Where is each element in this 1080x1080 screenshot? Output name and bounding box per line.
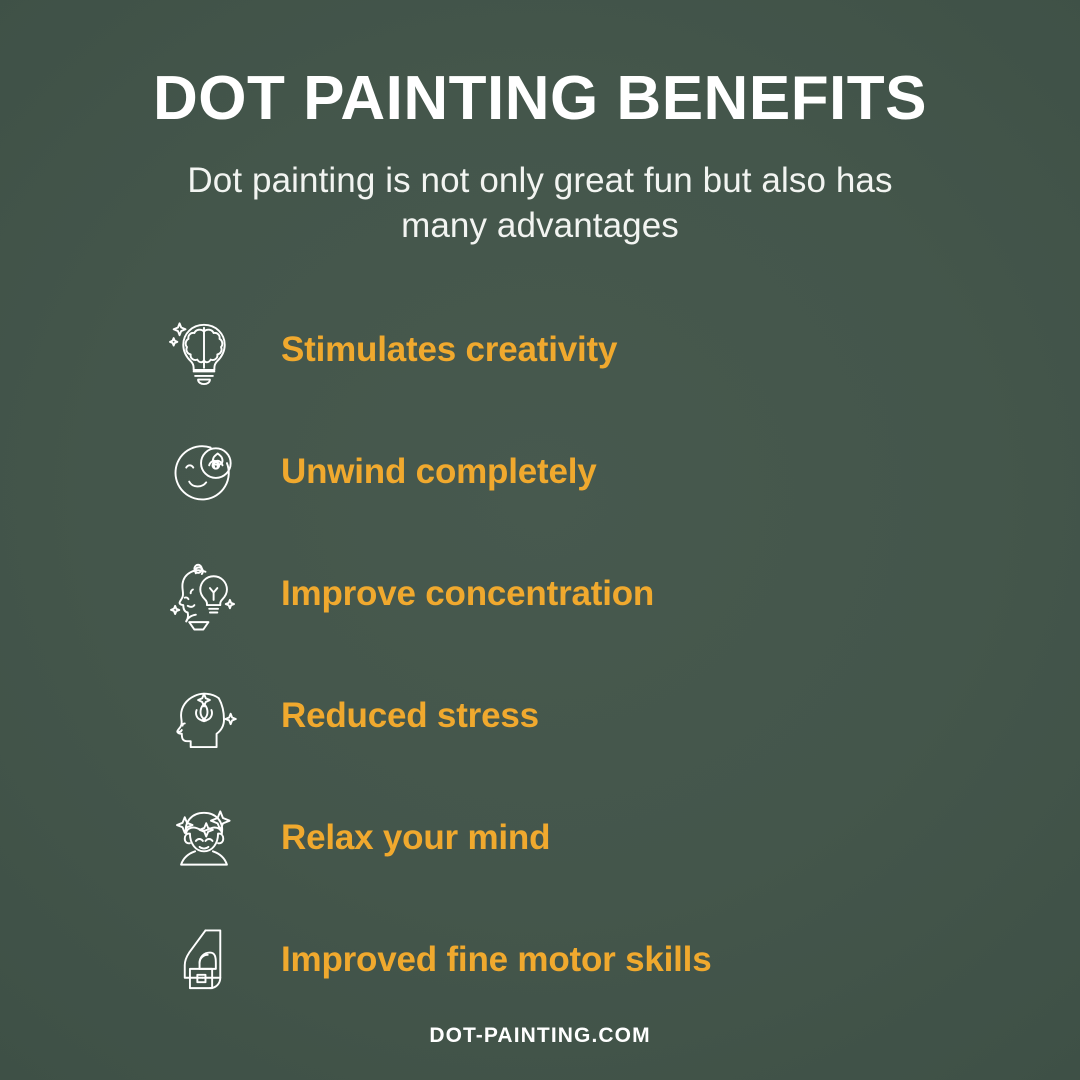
website-link[interactable]: DOT-PAINTING.COM xyxy=(429,1024,650,1047)
list-item: Reduced stress xyxy=(140,655,940,777)
poster-canvas: DOT PAINTING BENEFITS Dot painting is no… xyxy=(0,0,1080,1080)
head-lightbulb-icon xyxy=(165,555,243,633)
benefit-label: Stimulates creativity xyxy=(281,332,617,367)
benefit-label: Improve concentration xyxy=(281,576,654,611)
poster-header: DOT PAINTING BENEFITS Dot painting is no… xyxy=(0,0,1080,249)
list-item: Improved fine motor skills xyxy=(140,899,940,1021)
poster-footer: DOT-PAINTING.COM xyxy=(0,1024,1080,1048)
brain-lightbulb-icon xyxy=(165,311,243,389)
hand-holding-block-icon xyxy=(165,921,243,999)
benefit-label: Relax your mind xyxy=(281,820,550,855)
benefit-label: Improved fine motor skills xyxy=(281,942,711,977)
benefit-label: Unwind completely xyxy=(281,454,597,489)
smiling-face-flower-icon xyxy=(165,433,243,511)
list-item: Stimulates creativity xyxy=(140,289,940,411)
head-lotus-icon xyxy=(165,677,243,755)
benefit-label: Reduced stress xyxy=(281,698,539,733)
relaxed-face-sparkles-icon xyxy=(165,799,243,877)
list-item: Unwind completely xyxy=(140,411,940,533)
list-item: Relax your mind xyxy=(140,777,940,899)
benefits-list: Stimulates creativity Unwind completely xyxy=(140,289,940,1021)
list-item: Improve concentration xyxy=(140,533,940,655)
page-subtitle: Dot painting is not only great fun but a… xyxy=(145,159,935,249)
page-title: DOT PAINTING BENEFITS xyxy=(0,66,1080,133)
